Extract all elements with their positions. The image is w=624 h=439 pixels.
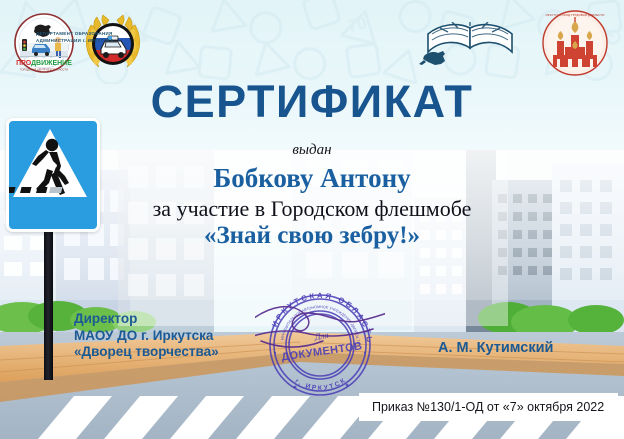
signer-name: А. М. Кутимский xyxy=(438,340,553,356)
department-caption: ДЕПАРТАМЕНТ ОБРАЗОВАНИЯ АДМИНИСТРАЦИИ г.… xyxy=(36,31,132,44)
event-theme: «Знай свою зебру!» xyxy=(0,222,624,250)
certificate-page: 70 xyxy=(0,0,624,439)
recipient-name: Бобкову Антону xyxy=(0,163,624,194)
department-caption-line2: АДМИНИСТРАЦИИ г. ИРКУТСКА xyxy=(36,38,132,45)
svg-text:70: 70 xyxy=(346,13,368,36)
irkutsk-cathedral-emblem: ИРКУТСК ГОРОД ТРУДОВОЙ ДОБЛЕСТИ xyxy=(541,9,609,77)
signer-position-line1: Директор xyxy=(74,311,219,328)
award-reason: за участие в Городском флешмобе xyxy=(0,196,624,222)
svg-text:ПРОДВИЖЕНИЕ: ПРОДВИЖЕНИЕ xyxy=(16,60,72,67)
awarded-label: выдан xyxy=(0,142,624,159)
official-stamp: ИРКУТСКАЯ ОБЛАСТЬ г. ИРКУТСК МУНИЦИПАЛЬН… xyxy=(255,283,385,401)
signer-position: Директор МАОУ ДО г. Иркутска «Дворец тво… xyxy=(74,311,219,361)
department-of-education-logo xyxy=(418,22,546,80)
svg-text:ГОРОДСКОЙ ЦЕНТР БЕЗОПАСНОСТИ: ГОРОДСКОЙ ЦЕНТР БЕЗОПАСНОСТИ xyxy=(20,68,68,72)
signer-position-line2: МАОУ ДО г. Иркутска xyxy=(74,328,219,345)
svg-text:ИРКУТСК ГОРОД ТРУДОВОЙ ДОБЛ: ИРКУТСК ГОРОД ТРУДОВОЙ ДОБЛЕСТИ xyxy=(546,13,605,17)
signer-position-line3: «Дворец творчества» xyxy=(74,344,219,361)
certificate-title: СЕРТИФИКАТ xyxy=(0,76,624,128)
department-caption-line1: ДЕПАРТАМЕНТ ОБРАЗОВАНИЯ xyxy=(36,31,132,38)
order-number: Приказ №130/1-ОД от «7» октября 2022 xyxy=(372,400,604,414)
